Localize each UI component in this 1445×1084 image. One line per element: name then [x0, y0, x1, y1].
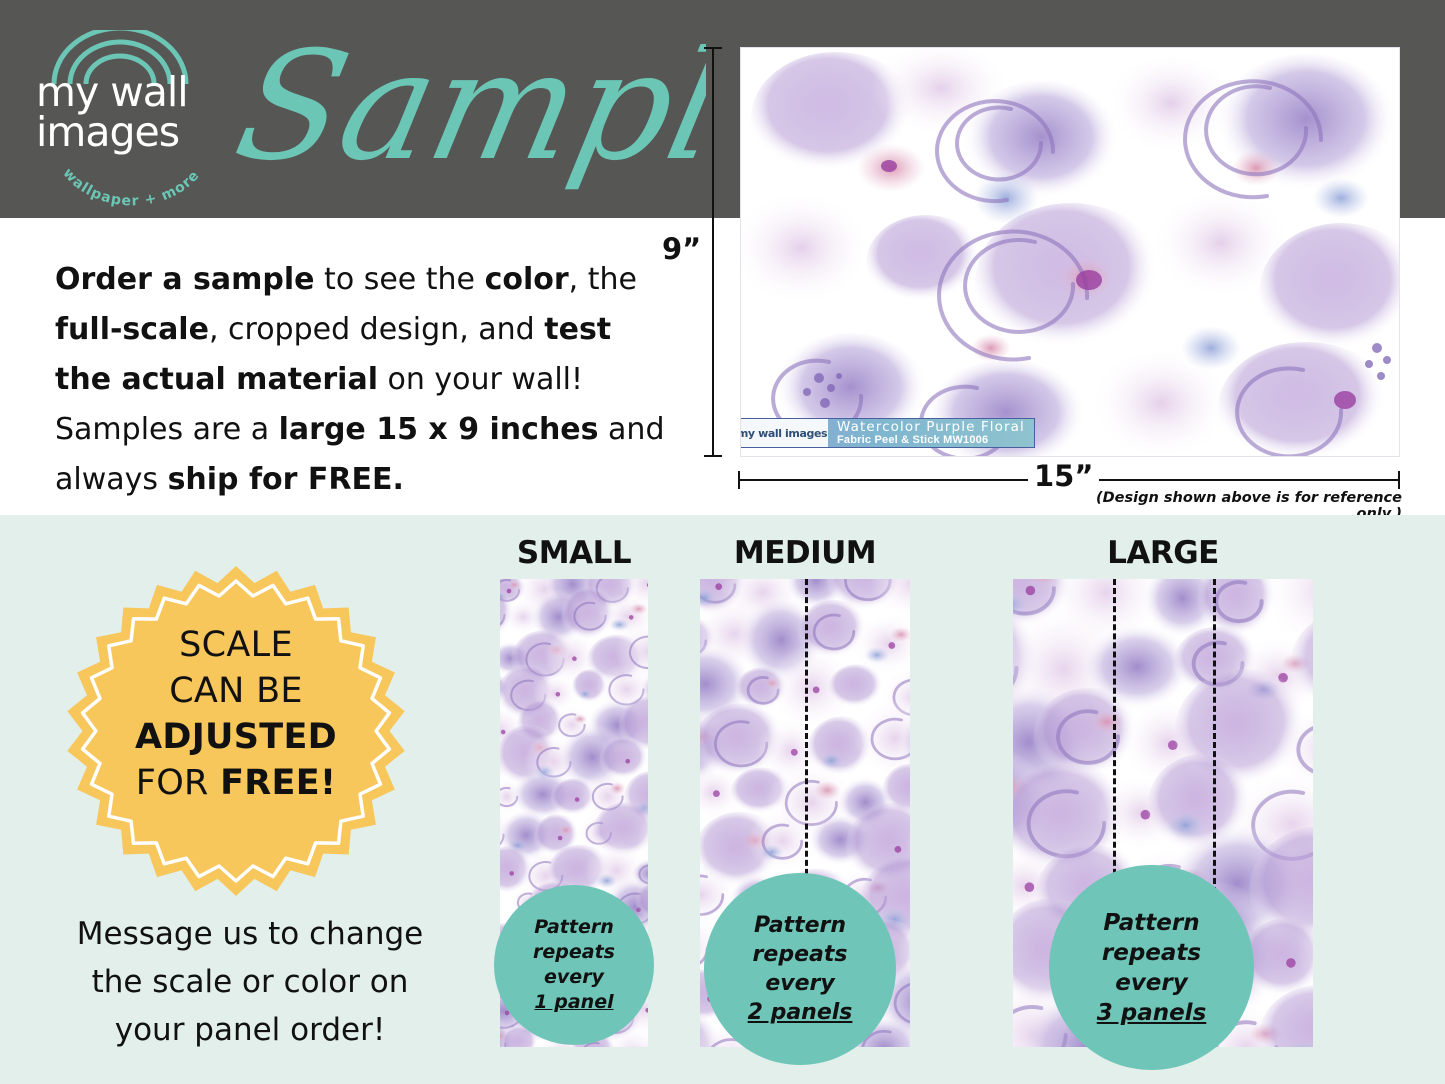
- intro-segment-8: large 15 x 9 inches: [279, 412, 599, 447]
- intro-segment-0: Order a sample: [55, 262, 315, 297]
- badge-line-2: ADJUSTED: [66, 714, 406, 760]
- product-name: Watercolor Purple Floral: [837, 420, 1034, 434]
- repeat-line-2: every: [748, 969, 853, 998]
- intro-segment-4: full-scale: [55, 312, 209, 347]
- badge-line-0: SCALE: [66, 622, 406, 668]
- sample-preview: 9”: [740, 47, 1400, 457]
- repeat-line-1: repeats: [1097, 938, 1207, 968]
- brand-line-2: images: [36, 112, 216, 152]
- repeat-badge-medium: Patternrepeatsevery2 panels: [704, 873, 896, 1065]
- repeat-value: 3 panels: [1097, 998, 1207, 1028]
- svg-text:wallpaper + more: wallpaper + more: [60, 165, 203, 209]
- message-line-0: Message us to change: [35, 910, 465, 958]
- scale-adjust-badge: SCALECAN BEADJUSTEDFOR FREE!: [66, 566, 406, 896]
- watercolor-floral-art: [741, 48, 1400, 457]
- message-paragraph: Message us to changethe scale or color o…: [35, 910, 465, 1054]
- intro-segment-2: color: [485, 262, 569, 297]
- brand-wordmark: my wall images: [36, 72, 216, 152]
- repeat-line-0: Pattern: [1097, 908, 1207, 938]
- product-label: my wall images Watercolor Purple Floral …: [740, 418, 1035, 448]
- intro-segment-10: ship for FREE.: [168, 462, 404, 497]
- label-text-block: Watercolor Purple Floral Fabric Peel & S…: [828, 419, 1034, 447]
- scale-title-large: LARGE: [1013, 535, 1313, 571]
- height-dimension-label: 9”: [662, 232, 701, 266]
- label-brand-text: my wall images: [740, 427, 827, 440]
- samples-infographic: my wall images wallpaper + more Samples …: [0, 0, 1445, 1084]
- repeat-line-1: repeats: [533, 940, 615, 965]
- intro-segment-1: to see the: [315, 262, 485, 297]
- repeat-badge-small: Patternrepeatsevery1 panel: [494, 885, 654, 1045]
- intro-segment-3: , the: [569, 262, 637, 297]
- sample-swatch-image: my wall images Watercolor Purple Floral …: [740, 47, 1400, 457]
- repeat-line-2: every: [533, 965, 615, 990]
- repeat-value: 1 panel: [533, 990, 615, 1015]
- scale-title-medium: MEDIUM: [700, 535, 910, 571]
- repeat-badge-text-small: Patternrepeatsevery1 panel: [533, 915, 615, 1015]
- scale-column-small: SMALL Patternrepeatsevery1 panel: [500, 535, 648, 1047]
- brand-tagline-text: wallpaper + more: [60, 165, 203, 209]
- scale-title-small: SMALL: [500, 535, 648, 571]
- height-dimension-line: [712, 47, 714, 457]
- product-subtitle: Fabric Peel & Stick MW1006: [837, 434, 1034, 447]
- repeat-line-0: Pattern: [748, 911, 853, 940]
- scale-column-large: LARGE Patternrepeatsevery3 panels: [1013, 535, 1313, 1047]
- repeat-badge-large: Patternrepeatsevery3 panels: [1049, 865, 1254, 1070]
- scale-column-medium: MEDIUM Patternrepeatsevery2 panels: [700, 535, 910, 1047]
- samples-script-title: Samples: [226, 10, 706, 210]
- repeat-badge-text-large: Patternrepeatsevery3 panels: [1097, 908, 1207, 1028]
- brand-tagline: wallpaper + more: [52, 158, 212, 204]
- brand-logo: my wall images wallpaper + more: [22, 22, 212, 202]
- intro-segment-5: , cropped design, and: [209, 312, 544, 347]
- message-line-2: your panel order!: [35, 1006, 465, 1054]
- samples-script-text: Samples: [226, 19, 706, 194]
- badge-text: SCALECAN BEADJUSTEDFOR FREE!: [66, 622, 406, 806]
- repeat-badge-text-medium: Patternrepeatsevery2 panels: [748, 911, 853, 1027]
- width-dimension-label: 15”: [1028, 459, 1099, 493]
- intro-paragraph: Order a sample to see the color, the ful…: [55, 255, 675, 505]
- repeat-line-2: every: [1097, 968, 1207, 998]
- repeat-line-1: repeats: [748, 940, 853, 969]
- label-brand-logo: my wall images: [740, 419, 828, 447]
- repeat-value: 2 panels: [748, 998, 853, 1027]
- message-line-1: the scale or color on: [35, 958, 465, 1006]
- repeat-line-0: Pattern: [533, 915, 615, 940]
- badge-line-1: CAN BE: [66, 668, 406, 714]
- brand-line-1: my wall: [36, 72, 216, 112]
- badge-line-3: FOR FREE!: [66, 760, 406, 806]
